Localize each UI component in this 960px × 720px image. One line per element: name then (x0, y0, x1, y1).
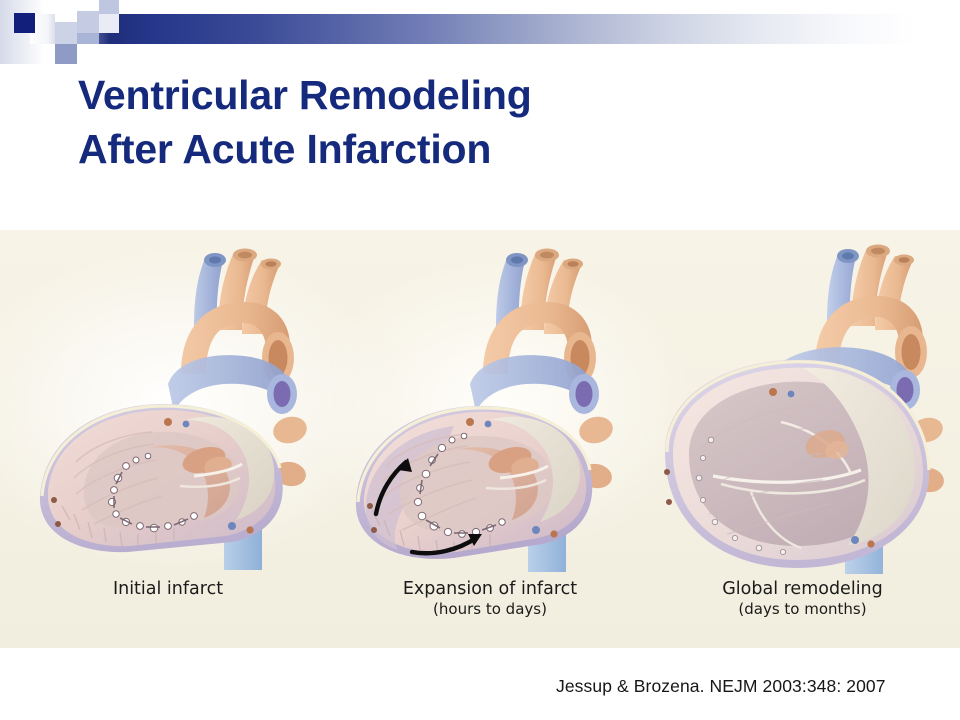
heart-cutaway-icon (655, 234, 950, 579)
panel-caption-remodeling-sub: (days to months) (655, 600, 950, 619)
panel-caption-remodeling: Global remodeling (days to months) (655, 578, 950, 620)
panel-caption-initial: Initial infarct (18, 578, 318, 600)
band-gradient-bar (30, 14, 915, 44)
heart-illustration-expansion (350, 234, 630, 579)
citation-text: Jessup & Brozena. NEJM 2003:348: 2007 (556, 676, 886, 697)
heart-cutaway-icon (350, 234, 630, 579)
figure-stage: Initial infarct (0, 230, 960, 648)
band-square-mid (77, 33, 99, 44)
band-square-light-top (99, 0, 119, 14)
heart-cutaway-icon (18, 234, 318, 579)
band-square-pale (99, 14, 119, 33)
panel-caption-expansion-main: Expansion of infarct (403, 579, 577, 599)
figure-panel-initial-infarct: Initial infarct (18, 230, 318, 648)
band-square-light-mid (77, 11, 99, 33)
figure-panel: Initial infarct (0, 230, 960, 648)
header-decoration-band (0, 0, 960, 64)
panel-caption-initial-main: Initial infarct (113, 579, 223, 599)
panel-caption-remodeling-main: Global remodeling (722, 579, 883, 599)
slide-root: Ventricular Remodeling After Acute Infar… (0, 0, 960, 720)
panel-caption-expansion: Expansion of infarct (hours to days) (350, 578, 630, 620)
slide-title-line-2: After Acute Infarction (78, 122, 898, 176)
panel-caption-expansion-sub: (hours to days) (350, 600, 630, 619)
band-square-steel (55, 44, 77, 64)
slide-title: Ventricular Remodeling After Acute Infar… (78, 68, 898, 176)
figure-panel-expansion: Expansion of infarct (hours to days) (350, 230, 630, 648)
figure-panel-global-remodeling: Global remodeling (days to months) (655, 230, 950, 648)
band-square-light-low (55, 22, 77, 44)
heart-illustration-remodeling (655, 234, 950, 579)
band-square-navy (14, 13, 35, 33)
slide-title-line-1: Ventricular Remodeling (78, 68, 898, 122)
heart-illustration-initial (18, 234, 318, 579)
band-square-white (55, 0, 77, 22)
